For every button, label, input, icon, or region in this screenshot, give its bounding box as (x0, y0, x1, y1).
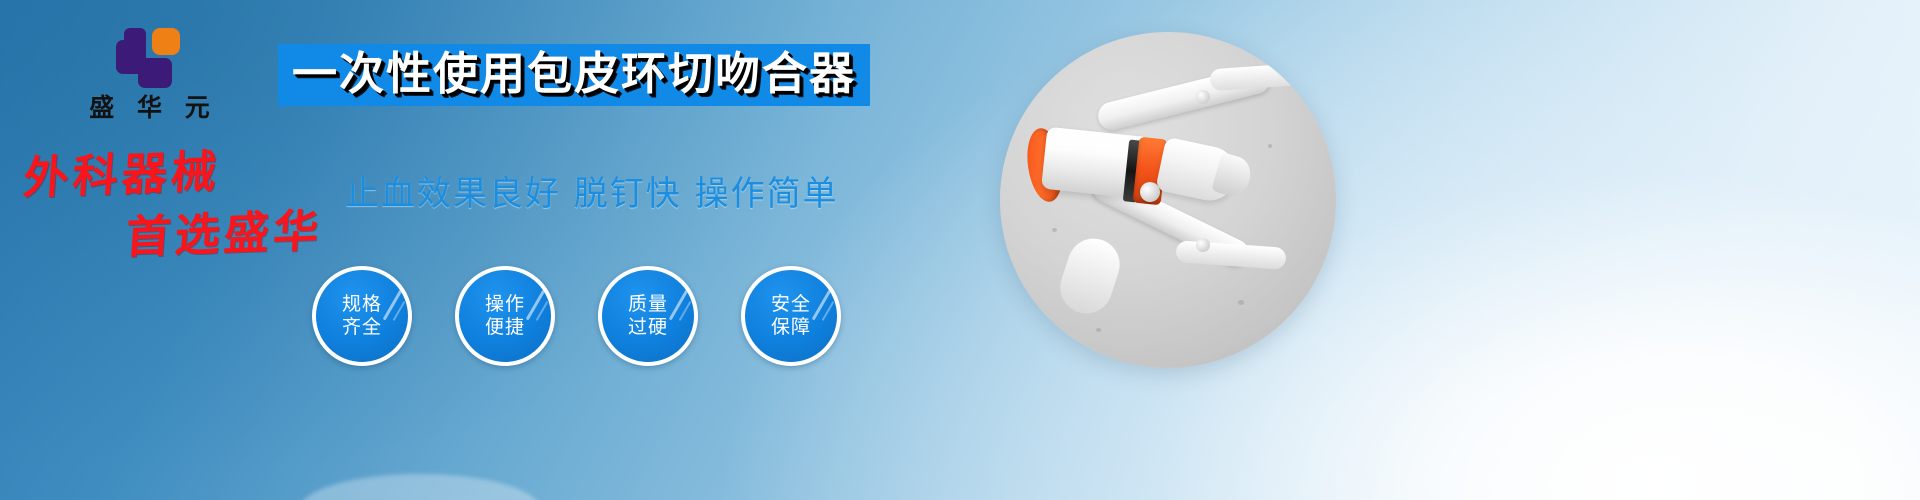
feature-badge-line-2: 保障 (771, 316, 811, 339)
stapler-pivot-hinge (1140, 182, 1160, 202)
slash-decoration-icon (669, 290, 689, 321)
feature-badge-line-2: 齐全 (342, 316, 382, 339)
stapler-lower-arm-tip (1175, 240, 1286, 270)
feature-badge-line-1: 规格 (342, 293, 382, 316)
feature-badge-list: 规格 齐全 操作 便捷 质量 过硬 安全 保障 (312, 266, 841, 366)
photo-speckle (1268, 144, 1272, 148)
feature-badge-line-1: 安全 (771, 293, 811, 316)
feature-badge-line-1: 操作 (485, 293, 525, 316)
stapler-upper-hinge (1196, 90, 1210, 104)
red-slogan: 外科器械 首选盛华 (18, 150, 348, 256)
photo-speckle (1096, 328, 1101, 332)
slash-decoration-icon (526, 290, 546, 321)
photo-speckle (1238, 300, 1244, 305)
logo-mark-icon (116, 26, 184, 88)
red-slogan-line-1: 外科器械 (22, 144, 350, 200)
stapler-lower-hinge (1196, 238, 1210, 252)
feature-badge-quality[interactable]: 质量 过硬 (598, 266, 698, 366)
product-title: 一次性使用包皮环切吻合器 (292, 50, 856, 98)
feature-badge-line-2: 过硬 (628, 316, 668, 339)
product-title-box: 一次性使用包皮环切吻合器 (278, 44, 870, 106)
feature-badge-specification[interactable]: 规格 齐全 (312, 266, 412, 366)
slash-decoration-icon (812, 290, 832, 321)
feature-badge-line-1: 质量 (628, 293, 668, 316)
photo-speckle (1052, 228, 1057, 232)
feature-badge-safety[interactable]: 安全 保障 (741, 266, 841, 366)
slash-decoration-icon (383, 290, 403, 321)
product-photo (1000, 32, 1336, 368)
feature-badge-line-2: 便捷 (485, 316, 525, 339)
bottom-arc-decoration (300, 474, 540, 500)
product-subtitle: 止血效果良好 脱钉快 操作简单 (345, 166, 839, 215)
feature-badge-operation[interactable]: 操作 便捷 (455, 266, 555, 366)
brand-name: 盛 华 元 (62, 95, 237, 120)
brand-logo[interactable]: 盛 华 元 (62, 26, 237, 120)
red-slogan-line-2: 首选盛华 (124, 207, 350, 260)
logo-square-orange (152, 28, 180, 55)
logo-square-bottom (138, 58, 172, 88)
promo-banner: 盛 华 元 外科器械 首选盛华 一次性使用包皮环切吻合器 止血效果良好 脱钉快 … (0, 0, 1920, 500)
stapler-lower-arm-hook (1054, 232, 1127, 320)
stapler-upper-arm-tip (1209, 63, 1306, 92)
